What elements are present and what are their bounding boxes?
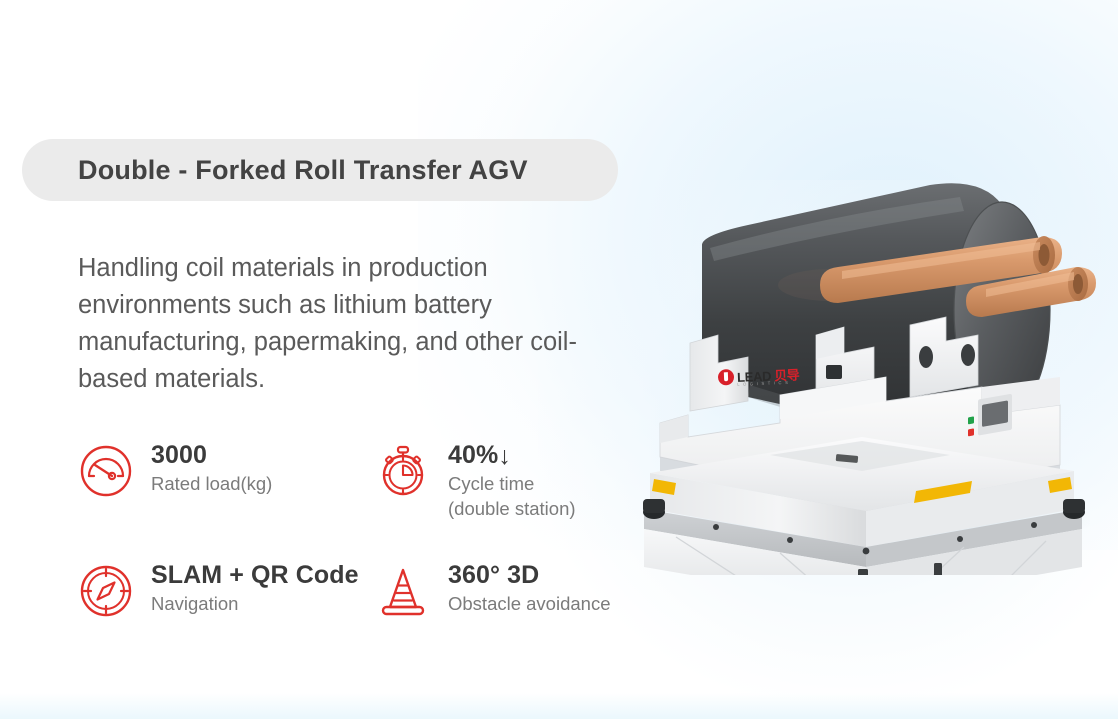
spec-label: Rated load(kg) bbox=[151, 472, 272, 497]
spec-label: Cycle time bbox=[448, 472, 576, 497]
spec-label: Navigation bbox=[151, 592, 359, 617]
spec-text-cycle-time: 40%↓ Cycle time (double station) bbox=[448, 440, 576, 522]
description-text: Handling coil materials in production en… bbox=[78, 250, 644, 398]
stopwatch-icon bbox=[375, 443, 431, 499]
content-column: Double - Forked Roll Transfer AGV Handli… bbox=[0, 0, 660, 719]
traffic-cone-icon bbox=[375, 563, 431, 619]
spec-item-navigation: SLAM + QR Code Navigation bbox=[78, 560, 375, 619]
page-title: Double - Forked Roll Transfer AGV bbox=[78, 155, 528, 186]
spec-item-rated-load: 3000 Rated load(kg) bbox=[78, 440, 375, 560]
spec-item-cycle-time: 40%↓ Cycle time (double station) bbox=[375, 440, 645, 560]
compass-icon bbox=[78, 563, 134, 619]
spec-value-number: 40% bbox=[448, 441, 498, 469]
down-arrow-icon: ↓ bbox=[498, 442, 511, 470]
lead-logo-mark-icon bbox=[718, 369, 735, 386]
spec-grid: 3000 Rated load(kg) bbox=[78, 440, 648, 619]
product-image-agv bbox=[630, 85, 1118, 575]
spec-item-obstacle-avoidance: 360° 3D Obstacle avoidance bbox=[375, 560, 645, 619]
title-pill: Double - Forked Roll Transfer AGV bbox=[22, 139, 618, 201]
spec-label-secondary: (double station) bbox=[448, 497, 576, 522]
spec-text-navigation: SLAM + QR Code Navigation bbox=[151, 560, 359, 617]
product-slide: Double - Forked Roll Transfer AGV Handli… bbox=[0, 0, 1118, 719]
spec-value: SLAM + QR Code bbox=[151, 561, 359, 589]
spec-value: 40%↓ bbox=[448, 441, 576, 469]
spec-label: Obstacle avoidance bbox=[448, 592, 611, 617]
spec-text-rated-load: 3000 Rated load(kg) bbox=[151, 440, 272, 497]
spec-text-obstacle-avoidance: 360° 3D Obstacle avoidance bbox=[448, 560, 611, 617]
spec-value: 3000 bbox=[151, 441, 272, 469]
agv-brand-logo: LEAD 贝导 L O G I S T I C S bbox=[718, 366, 800, 385]
spec-value: 360° 3D bbox=[448, 561, 611, 589]
gauge-icon bbox=[78, 443, 134, 499]
